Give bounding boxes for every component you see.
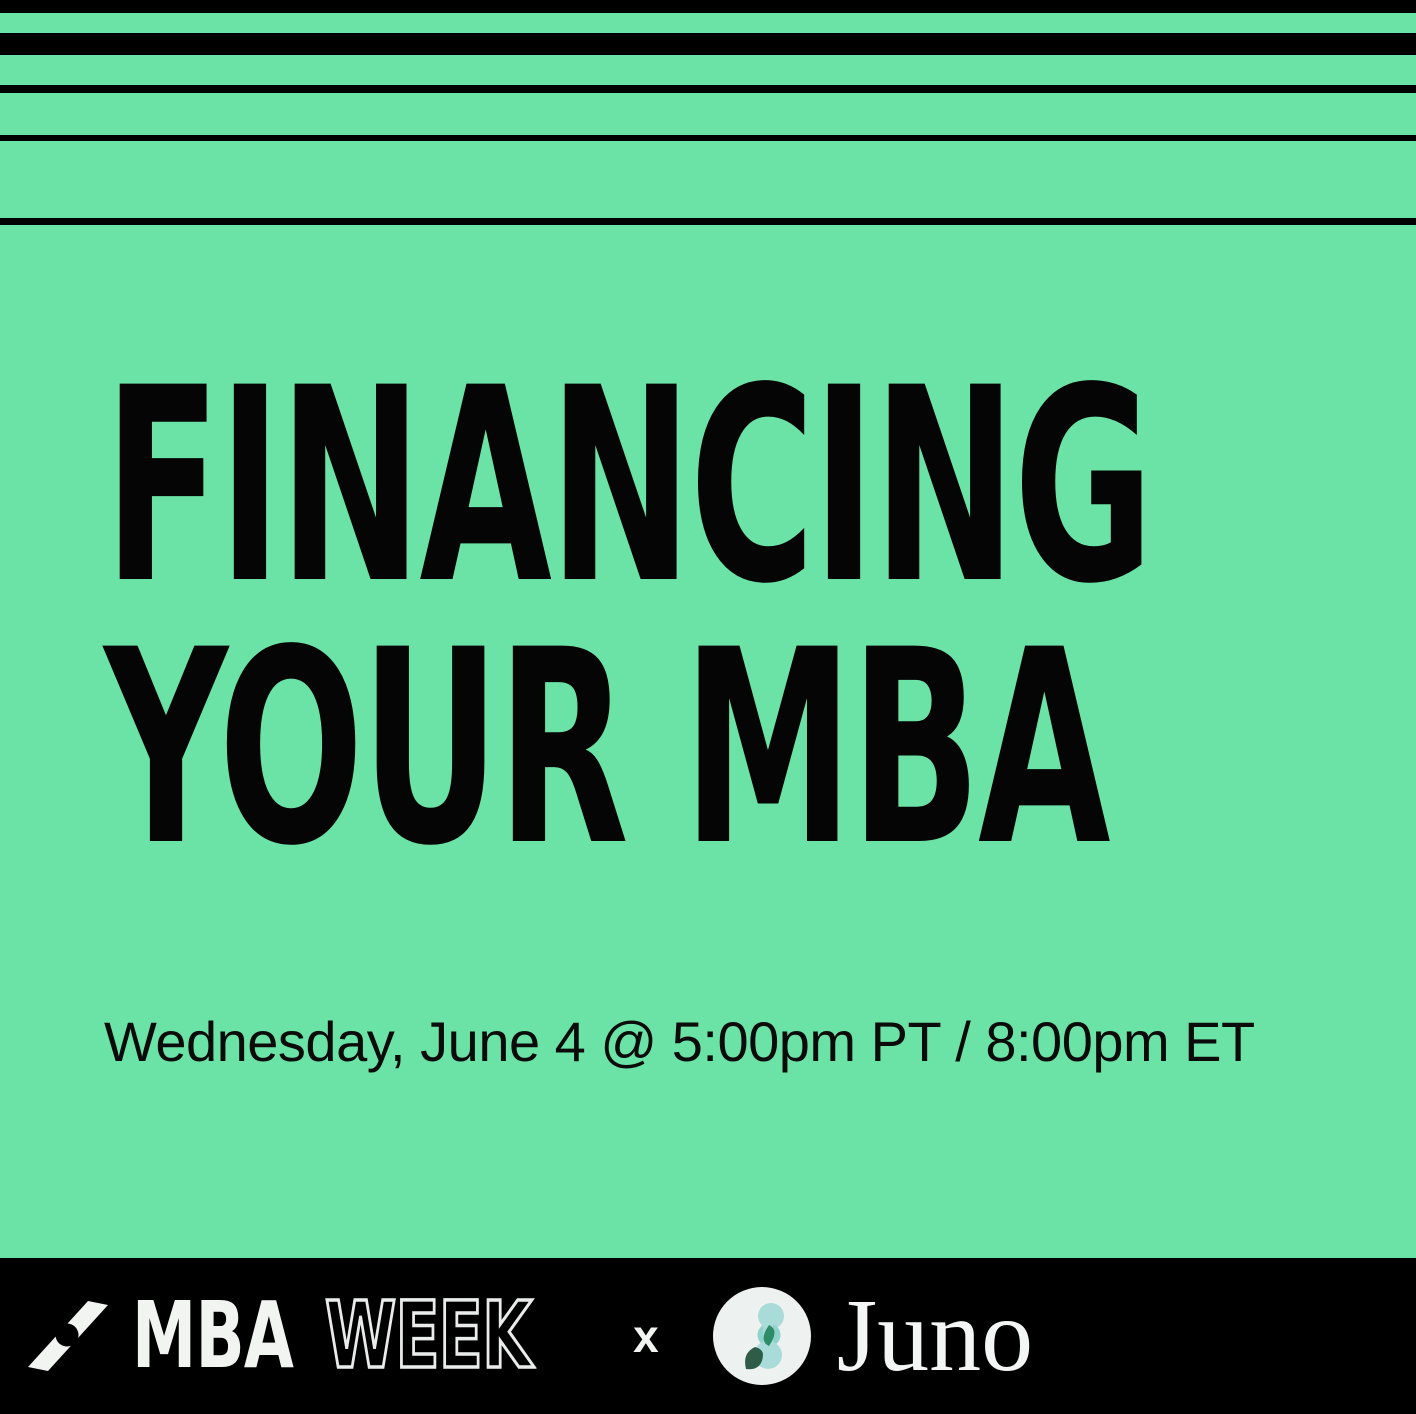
mba-week-wordmark: MBA WEEK (132, 1297, 589, 1375)
stripe-2 (0, 55, 1416, 85)
headline-line-1: FINANCING (104, 356, 814, 618)
stripe-4 (0, 141, 1416, 218)
stripe-3 (0, 93, 1416, 135)
juno-sprout-circle-icon (711, 1285, 813, 1387)
juno-wordmark: Juno (837, 1284, 1033, 1388)
collab-separator: x (633, 1313, 659, 1359)
mba-word: MBA (132, 1297, 293, 1375)
week-word-outline: WEEK (325, 1297, 531, 1375)
social-graphic-canvas: FINANCING YOUR MBA Wednesday, June 4 @ 5… (0, 0, 1416, 1414)
footer-brand-bar: MBA WEEK x Juno (0, 1258, 1416, 1414)
stripe-1 (0, 13, 1416, 33)
page-title: FINANCING YOUR MBA (104, 356, 1104, 880)
mba-week-logo[interactable]: MBA WEEK (26, 1297, 589, 1375)
headline-line-2: YOUR MBA (104, 618, 814, 880)
stripe-band (0, 0, 1416, 262)
event-datetime: Wednesday, June 4 @ 5:00pm PT / 8:00pm E… (104, 1011, 1255, 1073)
rhombus-eye-icon (26, 1299, 110, 1373)
juno-logo[interactable]: Juno (711, 1284, 1033, 1388)
